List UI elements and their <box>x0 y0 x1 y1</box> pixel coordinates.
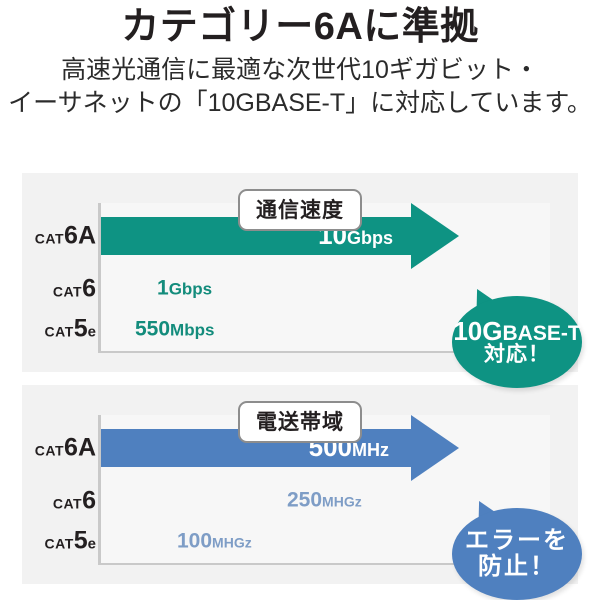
value-number: 1 <box>157 277 169 300</box>
bubble-line-1: 10GBASE-T <box>453 318 580 345</box>
cat-suffix: e <box>88 324 96 341</box>
bar-cat5e-bandwidth: 100MHGz <box>101 525 164 558</box>
bubble-line-1: エラーを <box>465 529 569 553</box>
bubble-line-2: 対応！ <box>484 344 550 366</box>
category-label-cat6a: CAT6A <box>35 434 96 463</box>
bar-arrow-head <box>411 415 459 481</box>
value-unit: Gbps <box>169 280 212 299</box>
category-labels-speed: CAT6A CAT6 CAT5e <box>22 203 96 353</box>
value-number: 250 <box>287 489 322 512</box>
value-unit: MHGz <box>322 494 362 510</box>
bubble-line-2: 防止！ <box>478 554 556 579</box>
value-unit: MHGz <box>212 534 252 550</box>
bar-value-cat5e-bandwidth: 100MHGz <box>177 529 252 553</box>
page-header: カテゴリー6Aに準拠 高速光通信に最適な次世代10ギガビット・ イーサネットの「… <box>0 0 600 120</box>
speech-bubble-bandwidth: エラーを 防止！ <box>452 508 582 600</box>
chart-title-speed: 通信速度 <box>238 189 362 231</box>
bubble-text-baset: BASE-T <box>502 322 580 345</box>
bar-cat6-bandwidth: 250MHGz <box>101 483 273 519</box>
page-subtitle-line-1: 高速光通信に最適な次世代10ギガビット・ <box>0 54 600 87</box>
value-number: 550 <box>135 317 170 340</box>
bar-cat6-speed: 1Gbps <box>101 271 143 307</box>
cat-prefix: CAT <box>53 496 82 512</box>
bubble-text-10g: 10G <box>453 316 502 346</box>
category-label-cat5e: CAT5e <box>45 527 96 556</box>
page-subtitle-line-2: イーサネットの「10GBASE-T」に対応しています。 <box>0 87 600 120</box>
cat-prefix: CAT <box>53 284 82 300</box>
speech-bubble-speed: 10GBASE-T 対応！ <box>452 296 582 388</box>
category-label-cat6a: CAT6A <box>35 222 96 251</box>
value-unit: Mbps <box>170 320 214 339</box>
cat-prefix: CAT <box>45 536 74 552</box>
cat-number: 5 <box>74 315 88 343</box>
chart-title-bandwidth: 電送帯域 <box>238 401 362 443</box>
bar-value-cat6-bandwidth: 250MHGz <box>287 489 362 513</box>
cat-number: 6 <box>82 275 96 303</box>
bar-cat5e-speed: 550Mbps <box>101 313 125 346</box>
cat-number: 5 <box>74 527 88 555</box>
category-label-cat6: CAT6 <box>53 487 96 516</box>
cat-prefix: CAT <box>45 324 74 340</box>
cat-suffix: A <box>78 222 96 250</box>
bar-arrow-head <box>411 203 459 269</box>
value-unit: MHz <box>352 440 389 460</box>
cat-number: 6 <box>82 487 96 515</box>
category-label-cat6: CAT6 <box>53 275 96 304</box>
cat-prefix: CAT <box>35 443 64 459</box>
cat-prefix: CAT <box>35 231 64 247</box>
category-labels-bandwidth: CAT6A CAT6 CAT5e <box>22 415 96 565</box>
category-label-cat5e: CAT5e <box>45 315 96 344</box>
cat-number: 6 <box>64 434 78 462</box>
cat-suffix: e <box>88 536 96 553</box>
cat-number: 6 <box>64 222 78 250</box>
cat-suffix: A <box>78 434 96 462</box>
bar-value-cat6-speed: 1Gbps <box>157 277 212 301</box>
value-number: 100 <box>177 529 212 552</box>
page-title: カテゴリー6Aに準拠 <box>0 6 600 50</box>
bar-value-cat5e-speed: 550Mbps <box>135 317 214 341</box>
